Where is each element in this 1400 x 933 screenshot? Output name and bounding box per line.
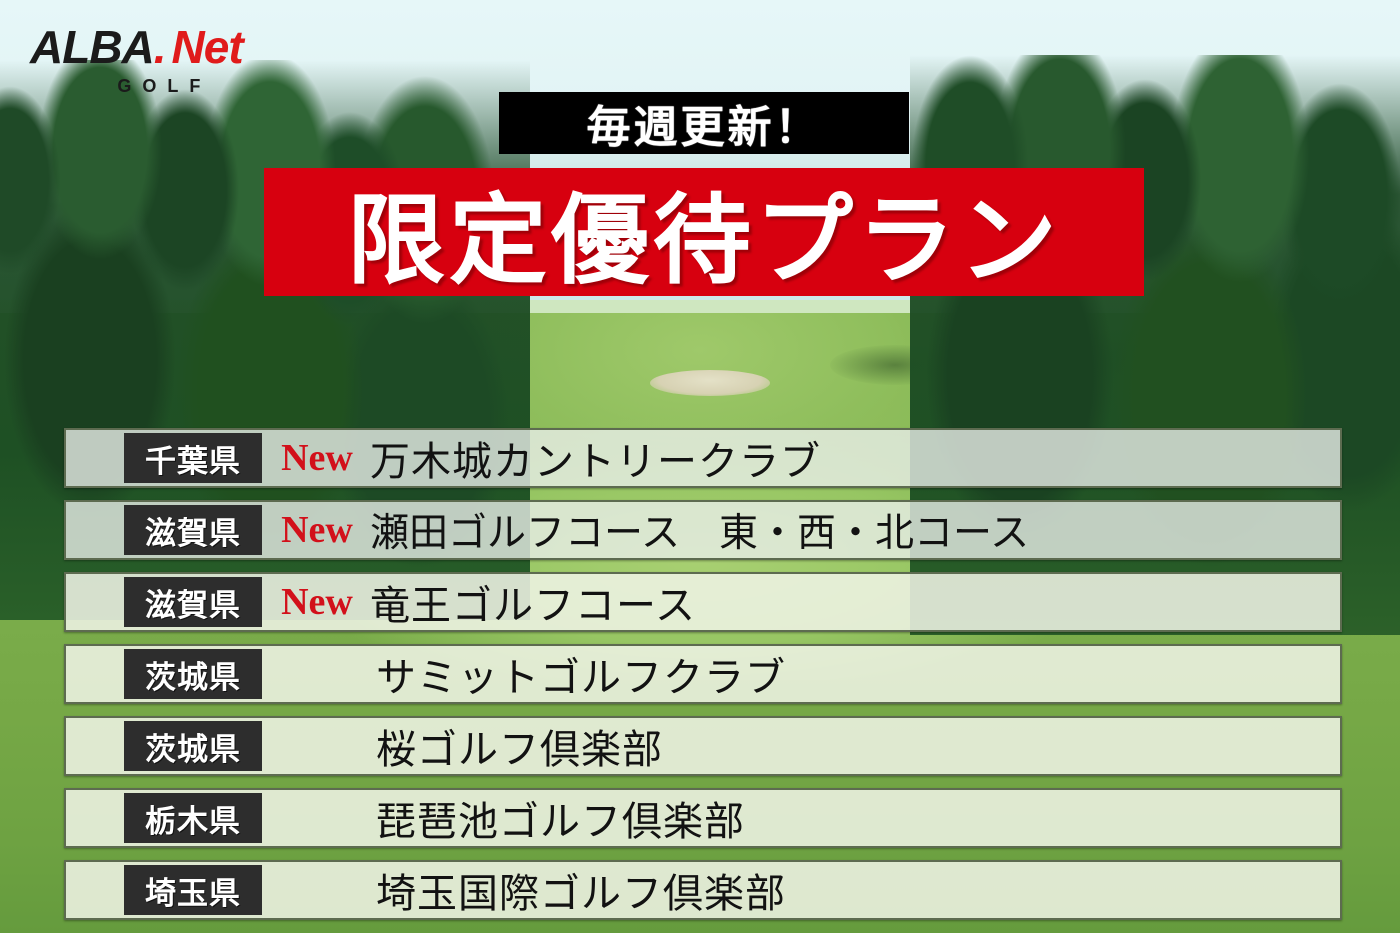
course-name: 琵琶池ゴルフ倶楽部 xyxy=(376,789,1340,847)
course-name: サミットゴルフクラブ xyxy=(376,645,1340,703)
course-list: 千葉県New万木城カントリークラブ滋賀県New瀬田ゴルフコース 東・西・北コース… xyxy=(64,428,1342,920)
new-badge: New xyxy=(270,439,364,477)
prefecture-badge: 滋賀県 xyxy=(124,577,262,627)
new-badge: New xyxy=(270,511,364,549)
course-name: 埼玉国際ゴルフ倶楽部 xyxy=(376,861,1340,919)
alba-net-golf-logo[interactable]: ALBA.Net GOLF xyxy=(30,24,243,95)
prefecture-badge: 千葉県 xyxy=(124,433,262,483)
logo-net-text: Net xyxy=(172,21,243,73)
list-item[interactable]: 茨城県サミットゴルフクラブ xyxy=(64,644,1342,704)
logo-alba-text: ALBA xyxy=(30,21,154,73)
list-item[interactable]: 茨城県桜ゴルフ倶楽部 xyxy=(64,716,1342,776)
logo-wordmark: ALBA.Net xyxy=(30,24,243,70)
list-item[interactable]: 千葉県New万木城カントリークラブ xyxy=(64,428,1342,488)
page-title: 限定優待プラン xyxy=(264,168,1144,296)
new-badge: New xyxy=(270,583,364,621)
list-item[interactable]: 埼玉県埼玉国際ゴルフ倶楽部 xyxy=(64,860,1342,920)
course-name: 竜王ゴルフコース xyxy=(370,573,1340,631)
logo-golf-text: GOLF xyxy=(30,77,243,95)
bunker-left xyxy=(650,370,770,396)
course-name: 瀬田ゴルフコース 東・西・北コース xyxy=(370,502,1340,558)
weekly-update-badge: 毎週更新！ xyxy=(499,92,909,154)
prefecture-badge: 茨城県 xyxy=(124,649,262,699)
promo-banner: ALBA.Net GOLF 毎週更新！ 限定優待プラン 千葉県New万木城カント… xyxy=(0,0,1400,933)
prefecture-badge: 栃木県 xyxy=(124,793,262,843)
course-name: 桜ゴルフ倶楽部 xyxy=(376,717,1340,775)
prefecture-badge: 茨城県 xyxy=(124,721,262,771)
list-item[interactable]: 栃木県琵琶池ゴルフ倶楽部 xyxy=(64,788,1342,848)
logo-red-dot: . xyxy=(154,21,166,73)
prefecture-badge: 滋賀県 xyxy=(124,505,262,555)
list-item[interactable]: 滋賀県New瀬田ゴルフコース 東・西・北コース xyxy=(64,500,1342,560)
list-item[interactable]: 滋賀県New竜王ゴルフコース xyxy=(64,572,1342,632)
prefecture-badge: 埼玉県 xyxy=(124,865,262,915)
course-name: 万木城カントリークラブ xyxy=(370,429,1340,487)
